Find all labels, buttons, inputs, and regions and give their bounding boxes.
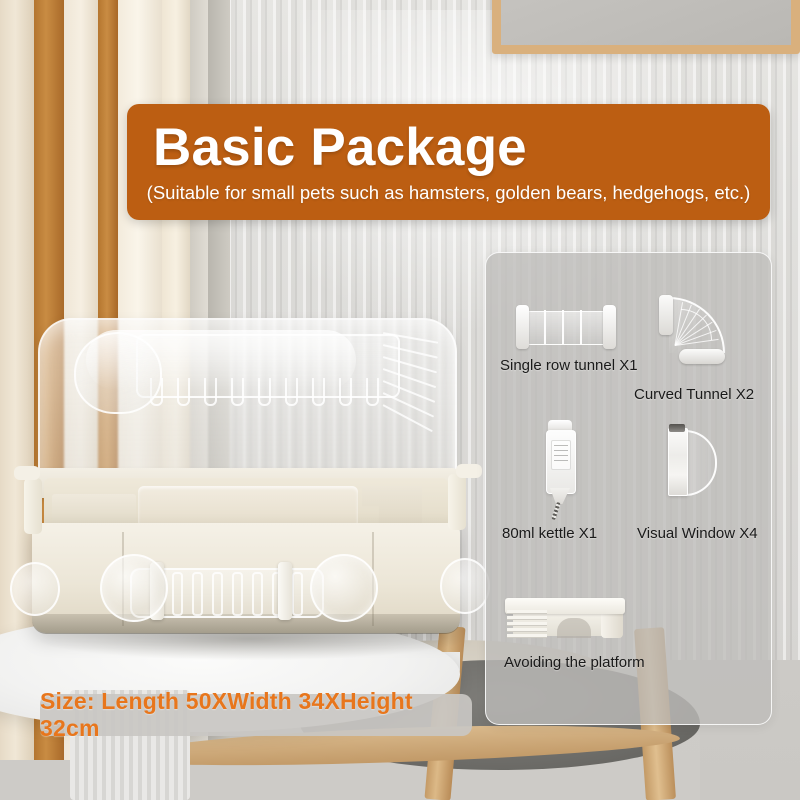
hamster-cage-product: /*rungs injected*/: [10, 318, 490, 648]
product-marketing-image: /*rungs injected*/ Basic Package (Suitab…: [0, 0, 800, 800]
tunnel-rib: [212, 572, 223, 616]
banner-subtitle: (Suitable for small pets such as hamster…: [127, 182, 770, 204]
platform-icon: [505, 594, 631, 642]
side-dome-window: [440, 558, 490, 614]
accessory-label-platform: Avoiding the platform: [504, 654, 645, 671]
window-clip: [669, 424, 685, 432]
tunnel-clamp: [278, 562, 292, 620]
accessory-label-single-row-tunnel: Single row tunnel X1: [500, 357, 638, 374]
vent-fin: [383, 332, 438, 344]
single-row-tunnel-icon: [516, 305, 616, 349]
kettle-tip: [550, 488, 570, 504]
cage-drop-shadow: [40, 630, 460, 660]
vent-fin: [383, 404, 433, 432]
ladder-rung: [366, 378, 379, 406]
kettle-label: [551, 440, 571, 470]
water-kettle-icon: [542, 420, 578, 520]
ladder-rung: [258, 378, 271, 406]
vent-fin: [383, 344, 438, 359]
tunnel-ring: [580, 310, 582, 344]
accessory-label-kettle: 80ml kettle X1: [502, 525, 597, 542]
curved-tunnel-icon: [657, 293, 729, 369]
vent-fin: [383, 392, 435, 417]
ladder-rung: [204, 378, 217, 406]
lid-vent-fins: [383, 332, 443, 422]
page-title: Basic Package: [127, 120, 770, 176]
top-dome-window: [74, 332, 162, 414]
frame-artwork: [501, 0, 791, 45]
tunnel-end-cap: [603, 305, 616, 349]
tunnel-rib: [232, 572, 243, 616]
tunnel-tube: [526, 311, 608, 345]
tunnel-end-cap: [516, 305, 529, 349]
cage-transparent-lid: /*rungs injected*/: [38, 318, 457, 492]
tunnel-rib: [252, 572, 263, 616]
platform-arch: [557, 618, 591, 638]
side-hook: [14, 466, 40, 480]
elbow-flange: [659, 295, 673, 335]
side-attachment-tab: [24, 478, 42, 534]
window-plate: [668, 428, 688, 496]
tunnel-rib: [172, 572, 183, 616]
wall-picture-frame: [492, 0, 800, 54]
ladder-rung: [339, 378, 352, 406]
side-hook: [456, 464, 482, 478]
window-dome: [683, 430, 717, 496]
tunnel-ring: [562, 310, 564, 344]
elbow-flange: [679, 349, 725, 364]
ladder-rung: [177, 378, 190, 406]
ladder-rung: [312, 378, 325, 406]
platform-steps: [507, 608, 549, 638]
tunnel-rib: [192, 572, 203, 616]
front-dome-window: [100, 554, 168, 622]
tunnel-ring: [544, 310, 546, 344]
tray-ledge: [138, 486, 358, 528]
headline-banner: Basic Package (Suitable for small pets s…: [127, 104, 770, 220]
kettle-spout: [551, 502, 560, 520]
ladder-rung: [285, 378, 298, 406]
accessory-label-visual-window: Visual Window X4: [637, 525, 758, 542]
front-dome-window: [310, 554, 378, 622]
size-badge: Size: Length 50XWidth 34XHeight 32cm: [40, 694, 472, 736]
side-attachment-tab: [448, 474, 466, 530]
side-dome-window: [10, 562, 60, 616]
platform-post: [601, 610, 623, 638]
accessory-label-curved-tunnel: Curved Tunnel X2: [634, 386, 754, 403]
ladder-rung: [231, 378, 244, 406]
tunnel-rib: [292, 572, 303, 616]
lid-ladder: /*rungs injected*/: [150, 378, 386, 414]
tray-step: [52, 494, 136, 524]
visual-window-icon: [668, 424, 718, 502]
size-badge-text: Size: Length 50XWidth 34XHeight 32cm: [40, 688, 472, 742]
